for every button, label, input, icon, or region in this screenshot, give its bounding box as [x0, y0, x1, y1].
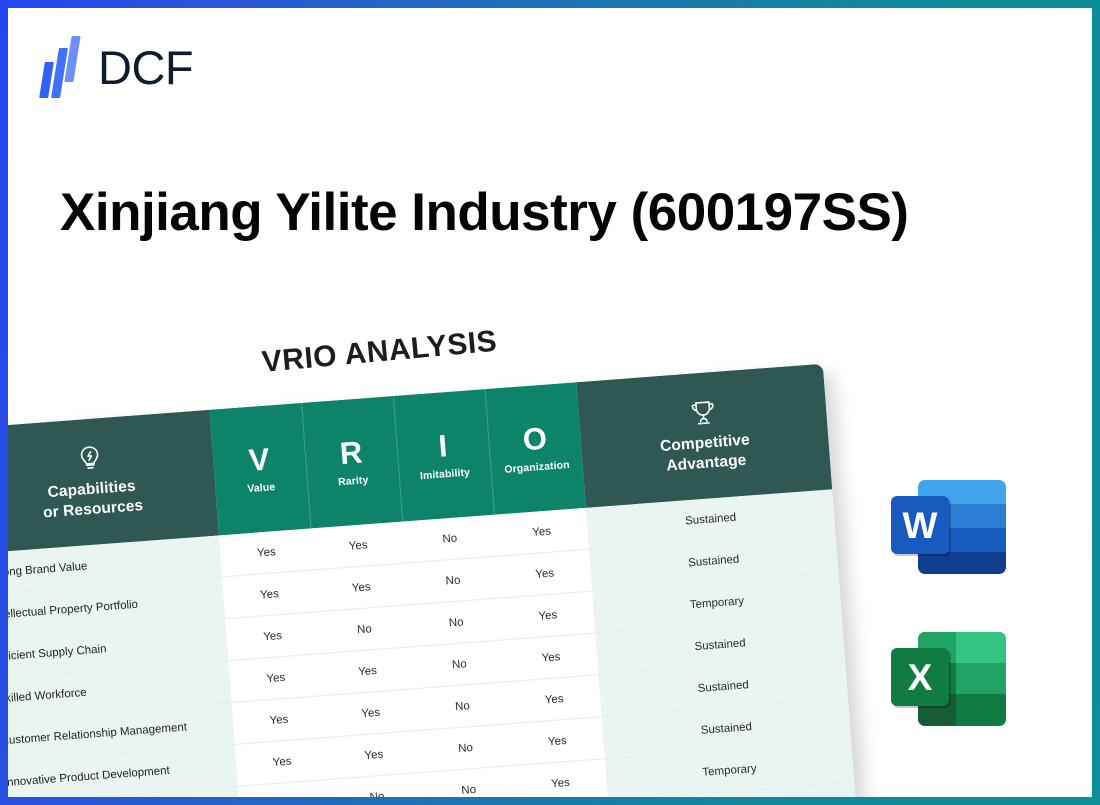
- row-rarity: No: [317, 605, 412, 654]
- row-rarity: Yes: [311, 522, 406, 570]
- row-organization: Yes: [494, 508, 589, 556]
- row-rarity: Yes: [314, 563, 409, 612]
- row-rarity: Yes: [320, 647, 415, 696]
- column-header-capabilities-line2: or Resources: [43, 497, 144, 521]
- column-header-imitability: I Imitability: [393, 389, 494, 522]
- column-header-value: V Value: [210, 403, 311, 536]
- column-header-competitive-advantage: Competitive Advantage: [576, 364, 832, 508]
- row-value: Yes: [225, 612, 320, 661]
- value-letter: V: [212, 441, 306, 479]
- row-value: Yes: [219, 529, 314, 577]
- row-value: Yes: [222, 570, 317, 619]
- row-organization: Yes: [504, 633, 599, 682]
- column-header-organization: O Organization: [485, 382, 586, 515]
- microsoft-word-icon[interactable]: W: [880, 468, 1020, 586]
- dcf-bars-logo-icon: [40, 36, 84, 98]
- microsoft-excel-icon[interactable]: X: [880, 620, 1020, 738]
- row-imitability: No: [409, 598, 504, 647]
- organization-letter: O: [488, 420, 582, 458]
- column-header-ca-line2: Advantage: [666, 452, 747, 475]
- page-frame: DCF Xinjiang Yilite Industry (600197SS) …: [0, 0, 1100, 805]
- row-value: Yes: [228, 654, 323, 703]
- lightbulb-icon: [73, 443, 105, 475]
- row-imitability: No: [415, 682, 510, 731]
- organization-word: Organization: [491, 458, 583, 477]
- row-organization: Yes: [510, 717, 605, 766]
- brand-logo[interactable]: DCF: [40, 36, 193, 98]
- vrio-heading: VRIO ANALYSIS: [260, 325, 498, 380]
- row-value: Yes: [232, 696, 327, 745]
- imitability-letter: I: [396, 427, 489, 465]
- row-organization: Yes: [513, 759, 608, 797]
- row-organization: Yes: [507, 675, 602, 724]
- value-word: Value: [215, 479, 307, 498]
- page-canvas: DCF Xinjiang Yilite Industry (600197SS) …: [8, 8, 1092, 797]
- rarity-word: Rarity: [307, 472, 399, 491]
- imitability-word: Imitability: [399, 465, 491, 484]
- row-imitability: No: [402, 515, 497, 563]
- row-rarity: Yes: [323, 689, 418, 738]
- row-value: Yes: [235, 737, 330, 786]
- vrio-table-card: Capabilities or Resources V Value R Rari…: [8, 364, 857, 797]
- row-organization: Yes: [500, 591, 595, 640]
- brand-name: DCF: [98, 44, 193, 91]
- rarity-letter: R: [305, 434, 398, 472]
- row-imitability: No: [418, 724, 513, 773]
- excel-letter: X: [908, 657, 933, 698]
- column-header-rarity: R Rarity: [301, 396, 402, 529]
- trophy-icon: [687, 397, 719, 429]
- row-organization: Yes: [497, 549, 592, 598]
- row-imitability: No: [412, 640, 507, 689]
- vrio-table: Capabilities or Resources V Value R Rari…: [8, 364, 857, 797]
- vrio-analysis-section: VRIO ANALYSIS: [8, 344, 842, 797]
- word-letter: W: [903, 505, 938, 546]
- row-imitability: No: [406, 556, 501, 605]
- page-title: Xinjiang Yilite Industry (600197SS): [60, 184, 1020, 242]
- column-header-capabilities: Capabilities or Resources: [8, 410, 219, 554]
- row-rarity: Yes: [326, 731, 421, 780]
